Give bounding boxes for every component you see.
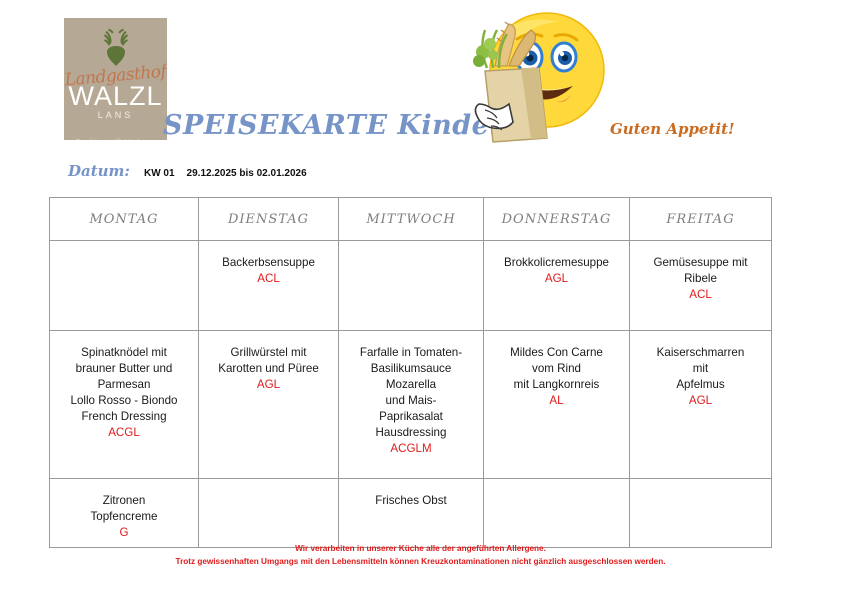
menu-cell-content: BackerbsensuppeACL xyxy=(199,241,338,293)
menu-cell-content: Gemüsesuppe mitRibeleACL xyxy=(630,241,771,309)
allergen-codes: ACGLM xyxy=(345,441,477,457)
menu-cell-content xyxy=(199,479,338,499)
menu-cell: Spinatknödel mitbrauner Butter undParmes… xyxy=(50,331,199,479)
menu-item-line: Spinatknödel mit xyxy=(56,345,192,361)
menu-cell: ZitronenTopfencremeG xyxy=(50,479,199,548)
menu-cell xyxy=(339,241,484,331)
menu-cell: BackerbsensuppeACL xyxy=(199,241,339,331)
menu-cell: KaiserschmarrenmitApfelmusAGL xyxy=(630,331,772,479)
menu-item-line: French Dressing xyxy=(56,409,192,425)
menu-item-line: Grillwürstel mit xyxy=(205,345,332,361)
allergen-codes: AGL xyxy=(205,377,332,393)
menu-item-line: Parmesan xyxy=(56,377,192,393)
menu-cell-content: Frisches Obst xyxy=(339,479,483,515)
allergen-codes: AL xyxy=(490,393,623,409)
table-header-row: MONTAG DIENSTAG MITTWOCH DONNERSTAG FREI… xyxy=(50,198,772,241)
menu-cell xyxy=(630,479,772,548)
column-header-mittwoch: MITTWOCH xyxy=(339,198,484,241)
menu-item-line: Ribele xyxy=(636,271,765,287)
menu-cell-content: Spinatknödel mitbrauner Butter undParmes… xyxy=(50,331,198,447)
menu-cell: BrokkolicremesuppeAGL xyxy=(484,241,630,331)
menu-cell-content: Grillwürstel mitKarotten und PüreeAGL xyxy=(199,331,338,399)
date-range-value: 29.12.2025 bis 02.01.2026 xyxy=(187,168,307,179)
menu-item-line: Apfelmus xyxy=(636,377,765,393)
menu-cell: Frisches Obst xyxy=(339,479,484,548)
dessert-row: ZitronenTopfencremeGFrisches Obst xyxy=(50,479,772,548)
column-header-montag: MONTAG xyxy=(50,198,199,241)
menu-cell-content: Mildes Con Carnevom Rindmit Langkornreis… xyxy=(484,331,629,415)
menu-item-line: Karotten und Püree xyxy=(205,361,332,377)
menu-item-line: Kaiserschmarren xyxy=(636,345,765,361)
disclaimer-line-2: Trotz gewissenhaften Umgangs mit den Leb… xyxy=(0,555,841,568)
menu-cell xyxy=(484,479,630,548)
allergen-codes: AGL xyxy=(490,271,623,287)
logo-tagline: Tradition trifft Moderne xyxy=(64,139,167,140)
menu-item-line: Mildes Con Carne xyxy=(490,345,623,361)
menu-item-line: Mozarella xyxy=(345,377,477,393)
allergen-codes: G xyxy=(56,525,192,541)
menu-item-line: Basilikumsauce xyxy=(345,361,477,377)
menu-cell: Gemüsesuppe mitRibeleACL xyxy=(630,241,772,331)
menu-item-line: Farfalle in Tomaten- xyxy=(345,345,477,361)
menu-item-line: Lollo Rosso - Biondo xyxy=(56,393,192,409)
logo-name: WALZL xyxy=(64,81,167,112)
menu-cell-content xyxy=(339,241,483,261)
menu-cell-content: KaiserschmarrenmitApfelmusAGL xyxy=(630,331,771,415)
page-header: Landgasthof WALZL LANS Tradition trifft … xyxy=(0,0,841,158)
menu-item-line: und Mais- xyxy=(345,393,477,409)
menu-cell-content: BrokkolicremesuppeAGL xyxy=(484,241,629,293)
menu-item-line: mit Langkornreis xyxy=(490,377,623,393)
menu-item-line: Brokkolicremesuppe xyxy=(490,255,623,271)
menu-item-line: Frisches Obst xyxy=(345,493,477,509)
menu-cell-content xyxy=(50,241,198,261)
allergen-codes: ACGL xyxy=(56,425,192,441)
menu-item-line: Gemüsesuppe mit xyxy=(636,255,765,271)
menu-item-line: mit xyxy=(636,361,765,377)
soup-row: BackerbsensuppeACLBrokkolicremesuppeAGLG… xyxy=(50,241,772,331)
menu-cell-content: Farfalle in Tomaten-BasilikumsauceMozare… xyxy=(339,331,483,463)
date-row: Datum: KW 01 29.12.2025 bis 02.01.2026 xyxy=(68,162,307,184)
date-label: Datum: xyxy=(68,162,130,180)
menu-cell xyxy=(199,479,339,548)
column-header-freitag: FREITAG xyxy=(630,198,772,241)
menu-item-line: brauner Butter und xyxy=(56,361,192,377)
weekly-menu-table: MONTAG DIENSTAG MITTWOCH DONNERSTAG FREI… xyxy=(49,197,772,548)
column-header-donnerstag: DONNERSTAG xyxy=(484,198,630,241)
allergen-codes: ACL xyxy=(205,271,332,287)
menu-cell: Mildes Con Carnevom Rindmit Langkornreis… xyxy=(484,331,630,479)
menu-cell-content: ZitronenTopfencremeG xyxy=(50,479,198,547)
main-course-row: Spinatknödel mitbrauner Butter undParmes… xyxy=(50,331,772,479)
menu-item-line: Topfencreme xyxy=(56,509,192,525)
logo-location: LANS xyxy=(64,110,167,120)
menu-cell-content xyxy=(484,479,629,499)
guten-appetit-text: Guten Appetit! xyxy=(610,120,735,138)
menu-item-line: Paprikasalat xyxy=(345,409,477,425)
menu-cell xyxy=(50,241,199,331)
menu-item-line: Backerbsensuppe xyxy=(205,255,332,271)
menu-item-line: Zitronen xyxy=(56,493,192,509)
menu-item-line: vom Rind xyxy=(490,361,623,377)
menu-cell-content xyxy=(630,479,771,499)
menu-cell: Grillwürstel mitKarotten und PüreeAGL xyxy=(199,331,339,479)
restaurant-logo: Landgasthof WALZL LANS Tradition trifft … xyxy=(64,18,167,140)
calendar-week-value: KW 01 xyxy=(144,168,175,179)
column-header-dienstag: DIENSTAG xyxy=(199,198,339,241)
allergen-codes: ACL xyxy=(636,287,765,303)
smiley-with-grocery-bag-icon xyxy=(443,8,623,154)
allergen-codes: AGL xyxy=(636,393,765,409)
menu-item-line: Hausdressing xyxy=(345,425,477,441)
menu-cell: Farfalle in Tomaten-BasilikumsauceMozare… xyxy=(339,331,484,479)
disclaimer-line-1: Wir verarbeiten in unserer Küche alle de… xyxy=(0,542,841,555)
allergen-disclaimer: Wir verarbeiten in unserer Küche alle de… xyxy=(0,542,841,568)
